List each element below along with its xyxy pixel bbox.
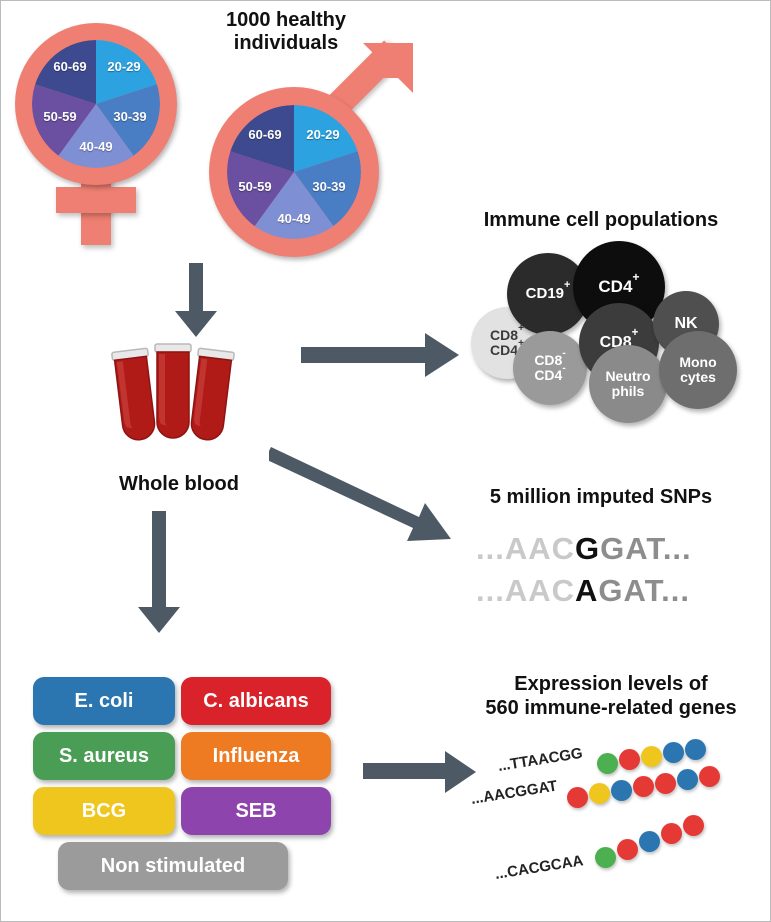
male-slice-label-40-49: 40-49 (268, 211, 320, 226)
arrow-blood-to-snps (269, 441, 459, 551)
stimulus-label: S. aureus (59, 745, 149, 768)
stimulus-c-albicans[interactable]: C. albicans (181, 677, 331, 725)
gene-dot (677, 769, 698, 790)
gene-dot (683, 815, 704, 836)
gene-dot (699, 766, 720, 787)
female-slice-label-50-59: 50-59 (35, 109, 85, 124)
snp-row2-prefix: ...AAC (476, 573, 575, 608)
female-stem-horizontal (56, 187, 136, 213)
stimulus-label: C. albicans (203, 690, 309, 713)
stimulus-non-stimulated[interactable]: Non stimulated (58, 842, 288, 890)
gene-dot (661, 823, 682, 844)
snp-row1-suffix: GAT... (600, 531, 692, 566)
gene-dot (639, 831, 660, 852)
stimulus-bcg[interactable]: BCG (33, 787, 175, 835)
male-slice-label-20-29: 20-29 (297, 127, 349, 142)
immune-bubble-cd8cd4neg: CD8-CD4- (513, 331, 587, 405)
immune-bubbles: CD8+CD4+ CD19+ CD4+ CD8-CD4- CD8+ NK Neu… (461, 241, 761, 416)
snp-row2-suffix: GAT... (598, 573, 690, 608)
arrow-cohort-to-blood (173, 263, 219, 339)
female-slice-label-60-69: 60-69 (45, 59, 95, 74)
male-slice-label-30-39: 30-39 (303, 179, 355, 194)
snp-row1-allele: G (575, 531, 600, 566)
stimulus-e-coli[interactable]: E. coli (33, 677, 175, 725)
stimulus-label: Non stimulated (101, 855, 245, 878)
stimulus-label: SEB (235, 800, 276, 823)
snps-title: 5 million imputed SNPs (451, 486, 751, 509)
arrow-stimuli-to-expression (363, 749, 478, 795)
gene-dot (663, 742, 684, 763)
immune-bubble-neutrophils: Neutrophils (589, 345, 667, 423)
whole-blood-label: Whole blood (79, 473, 279, 496)
expression-title-line2: 560 immune-related genes (451, 697, 771, 720)
arrow-blood-to-immune (301, 331, 461, 381)
gene-strand-2-label: ...AACGGAT (470, 777, 559, 807)
gene-dot (567, 787, 588, 808)
male-symbol: 60-69 20-29 30-39 40-49 50-59 (205, 37, 420, 257)
gene-strand-1-label: ...TTAACGG (497, 745, 584, 775)
stimulus-s-aureus[interactable]: S. aureus (33, 732, 175, 780)
snp-sequence-row-1: ...AACGGAT... (476, 531, 692, 567)
gene-dot (685, 739, 706, 760)
blood-tubes (109, 336, 249, 446)
stimulus-seb[interactable]: SEB (181, 787, 331, 835)
gene-strand-3-label: ...CACGCAA (494, 852, 585, 883)
male-slice-label-60-69: 60-69 (239, 127, 291, 142)
gene-dot (633, 776, 654, 797)
gene-dot (641, 746, 662, 767)
stimulus-label: Influenza (213, 745, 300, 768)
snp-sequence-row-2: ...AACAGAT... (476, 573, 690, 609)
gene-dot (597, 753, 618, 774)
female-slice-label-30-39: 30-39 (105, 109, 155, 124)
gene-dot (589, 783, 610, 804)
stimulus-influenza[interactable]: Influenza (181, 732, 331, 780)
gene-dot (595, 847, 616, 868)
gene-dot (655, 773, 676, 794)
female-slice-label-40-49: 40-49 (71, 139, 121, 154)
snp-row2-allele: A (575, 573, 598, 608)
gene-dot (617, 839, 638, 860)
expression-title-line1: Expression levels of (461, 673, 761, 696)
arrow-blood-to-stimuli (136, 511, 182, 635)
female-symbol: 60-69 20-29 30-39 40-49 50-59 (7, 15, 187, 245)
female-slice-label-20-29: 20-29 (99, 59, 149, 74)
stimulus-label: BCG (82, 800, 126, 823)
snp-row1-prefix: ...AAC (476, 531, 575, 566)
gene-dot (611, 780, 632, 801)
male-arrow-head (351, 39, 421, 109)
male-slice-label-50-59: 50-59 (229, 179, 281, 194)
immune-title: Immune cell populations (446, 209, 756, 232)
immune-bubble-monocytes: Monocytes (659, 331, 737, 409)
stimulus-label: E. coli (75, 690, 134, 713)
gene-dot (619, 749, 640, 770)
